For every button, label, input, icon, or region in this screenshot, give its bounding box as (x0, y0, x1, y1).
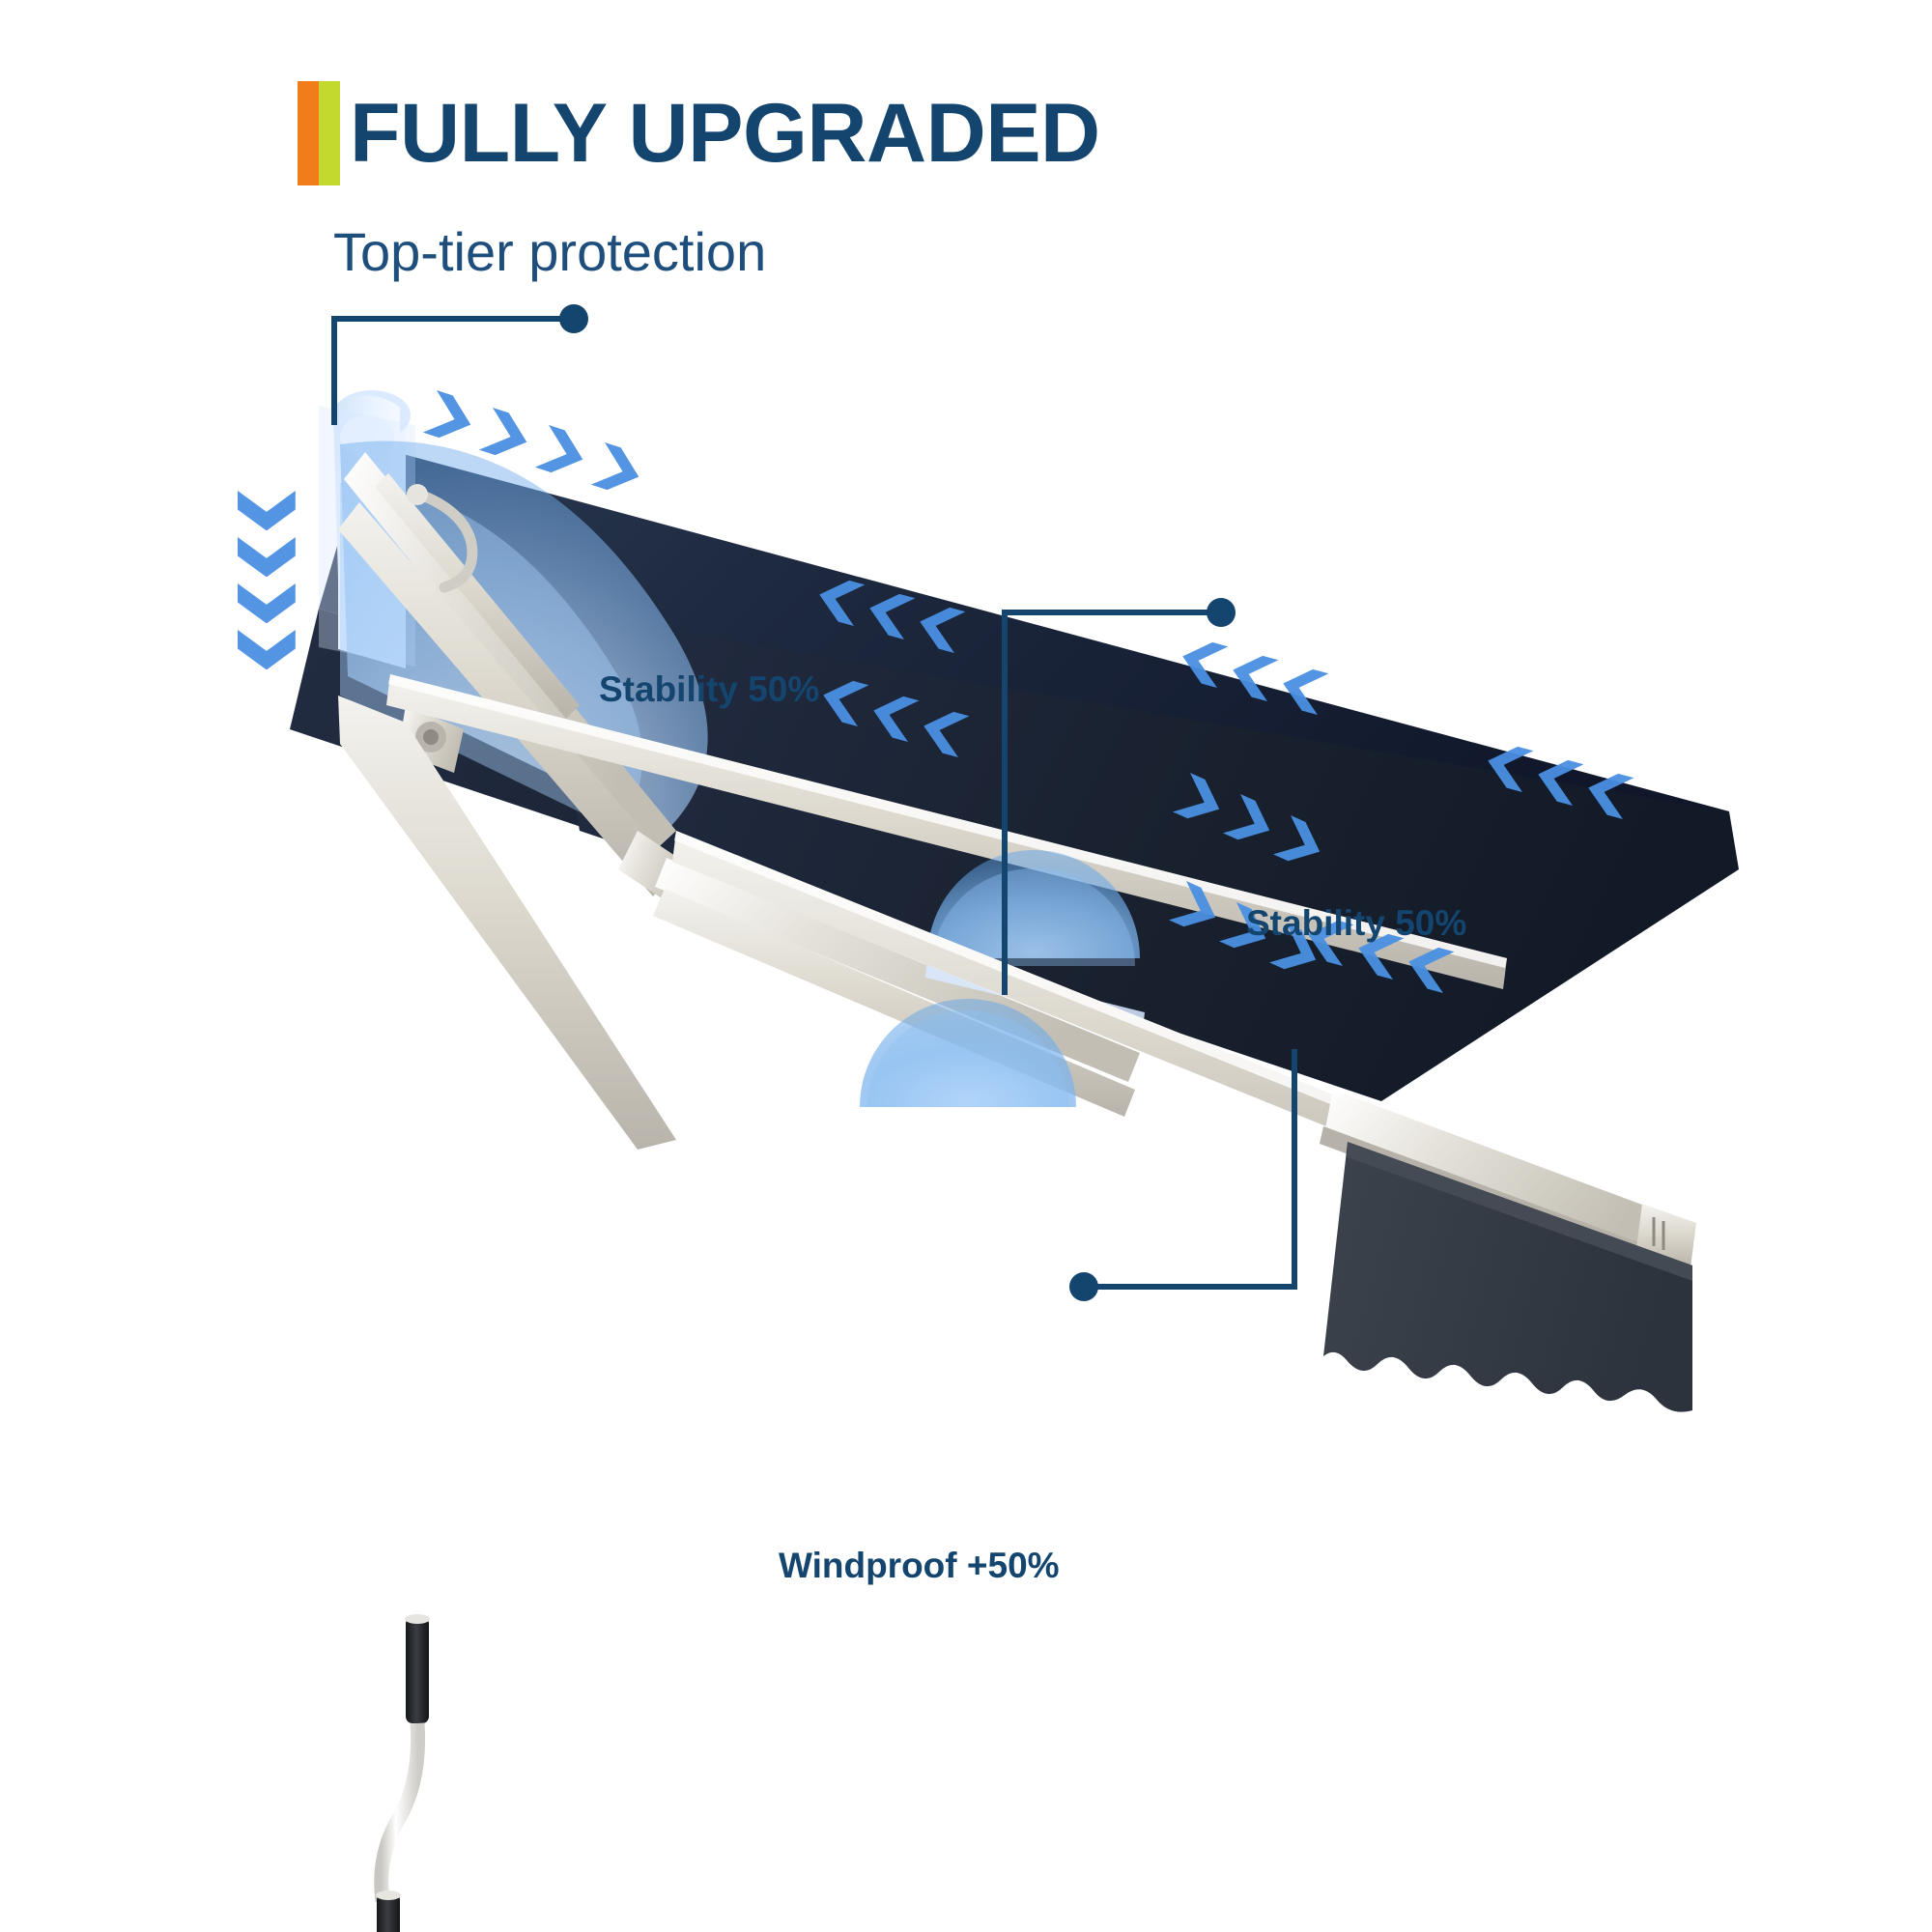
accent-bar-orange (298, 81, 319, 185)
title-row: FULLY UPGRADED (298, 81, 1100, 185)
page-subtitle: Top-tier protection (333, 220, 766, 283)
wind-chevrons-left-wall (238, 491, 296, 669)
callout-dot-windproof (1069, 1272, 1098, 1301)
callout-label-windproof: Windproof +50% (779, 1546, 1060, 1586)
product-figure: Stability 50% Stability 50% Windproof +5… (0, 290, 1932, 1932)
awning-illustration-svg (0, 290, 1932, 1932)
header: FULLY UPGRADED Top-tier protection (0, 0, 1932, 290)
accent-bar-lime (319, 81, 340, 185)
callout-label-stability-mid: Stability 50% (1246, 903, 1466, 944)
page-title: FULLY UPGRADED (350, 81, 1100, 185)
accent-bar (298, 81, 340, 185)
crank-grip-upper (406, 1617, 429, 1723)
callout-dot-stability-top (559, 304, 588, 333)
callout-label-stability-top: Stability 50% (599, 669, 819, 710)
callout-dot-stability-mid (1207, 598, 1236, 627)
infographic-canvas: FULLY UPGRADED Top-tier protection (0, 0, 1932, 1932)
